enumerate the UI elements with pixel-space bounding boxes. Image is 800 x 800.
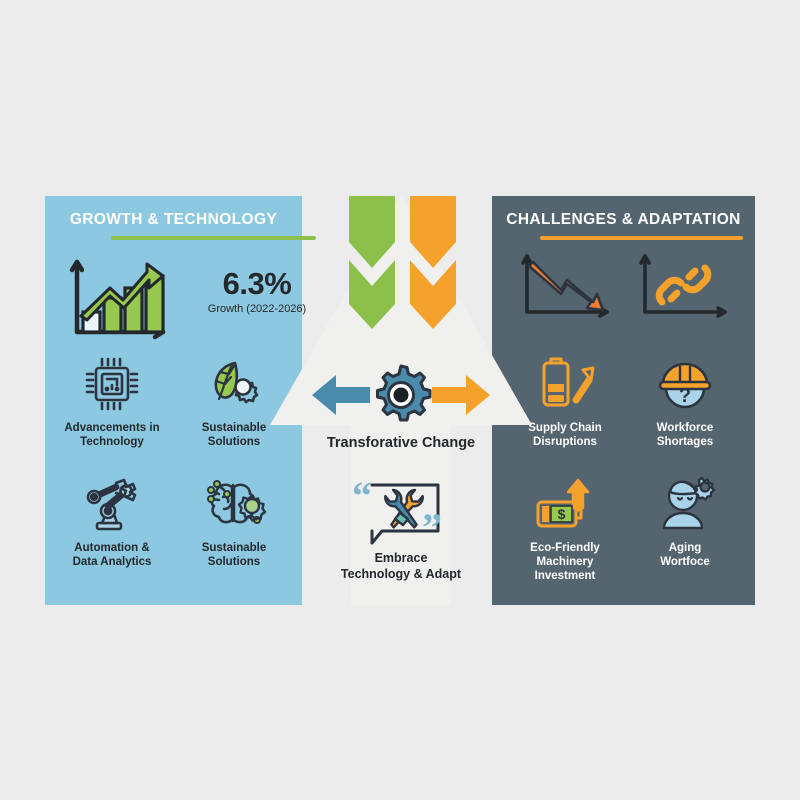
embrace-technology-block: “ ” Embrace Technology & Adapt [306, 475, 496, 582]
double-chevron-down-green-icon [349, 196, 395, 329]
robot-arm-icon [53, 474, 171, 534]
infographic-canvas: GROWTH & TECHNOLOGY [0, 0, 800, 800]
right-panel-heading: CHALLENGES & ADAPTATION [492, 211, 755, 229]
item-label: Aging Wortfoce [626, 541, 744, 569]
embrace-technology-title: Embrace Technology & Adapt [306, 551, 496, 582]
person-gear-icon [626, 474, 744, 534]
svg-text:”: ” [422, 505, 442, 550]
dollar-battery-arrow-icon: $ [506, 474, 624, 534]
growth-stat-block: 6.3% Growth (2022-2026) [193, 268, 321, 315]
hardhat-question-icon: ? [626, 354, 744, 414]
microchip-icon [53, 354, 171, 414]
double-chevron-down-orange-icon [410, 196, 456, 329]
svg-text:$: $ [558, 506, 566, 522]
challenges-adaptation-panel: CHALLENGES & ADAPTATION [492, 196, 755, 605]
svg-text:?: ? [679, 385, 691, 407]
item-automation-data-analytics[interactable]: Automation & Data Analytics [53, 474, 171, 569]
declining-arrow-chart-icon [506, 248, 624, 326]
growth-stat-caption: Growth (2022-2026) [193, 303, 321, 315]
item-advancements-in-technology[interactable]: Advancements in Technology [53, 354, 171, 449]
item-aging-workforce[interactable]: Aging Wortfoce [626, 474, 744, 569]
arrow-left-icon [310, 369, 372, 421]
item-workforce-shortages[interactable]: ? Workforce Shortages [626, 354, 744, 449]
svg-text:“: “ [352, 473, 372, 518]
brain-circuit-gear-icon [175, 474, 293, 534]
gear-icon [370, 364, 432, 426]
item-label: Sustainable Solutions [175, 541, 293, 569]
speech-bubble-wrenches-icon: “ ” [306, 475, 496, 547]
bar-chart-growth-icon [63, 254, 173, 346]
item-sustainable-solutions-leaf[interactable]: Sustainable Solutions [175, 354, 293, 449]
item-label: Automation & Data Analytics [53, 541, 171, 569]
item-eco-friendly-machinery-investment[interactable]: $ Eco-Friendly Machinery Investment [506, 474, 624, 583]
leaf-gear-icon [175, 354, 293, 414]
broken-chain-chart-icon [624, 248, 742, 326]
left-panel-heading: GROWTH & TECHNOLOGY [45, 211, 302, 229]
transformative-change-title: Transforative Change [296, 435, 506, 451]
item-sustainable-solutions-brain[interactable]: Sustainable Solutions [175, 474, 293, 569]
item-supply-chain-disruptions[interactable]: Supply Chain Disruptions [506, 354, 624, 449]
arrow-right-icon [430, 369, 492, 421]
item-label: Supply Chain Disruptions [506, 421, 624, 449]
item-label: Advancements in Technology [53, 421, 171, 449]
item-label: Eco-Friendly Machinery Investment [506, 541, 624, 583]
item-label: Workforce Shortages [626, 421, 744, 449]
right-heading-underline [540, 236, 743, 240]
item-label: Sustainable Solutions [175, 421, 293, 449]
transformative-change-block: Transforative Change [296, 364, 506, 451]
growth-technology-panel: GROWTH & TECHNOLOGY [45, 196, 302, 605]
growth-stat-value: 6.3% [193, 268, 321, 299]
battery-arrow-icon [506, 354, 624, 414]
left-heading-underline [111, 236, 316, 240]
